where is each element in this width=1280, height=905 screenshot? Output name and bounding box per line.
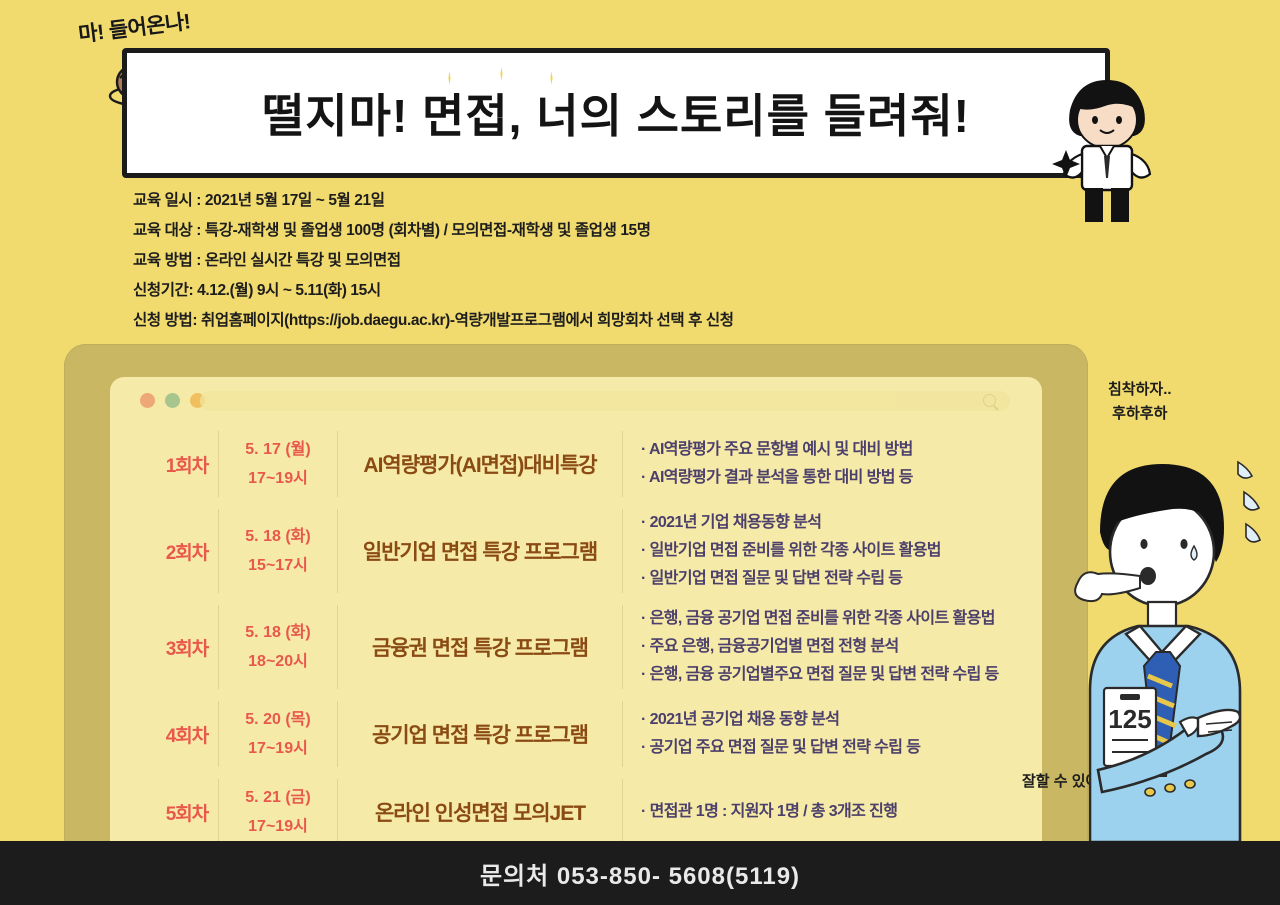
list-item: AI역량평가 주요 문항별 예시 및 대비 방법 (641, 436, 1042, 464)
browser-window: 1회차 5. 17 (월) 17~19시 AI역량평가(AI면접)대비특강 AI… (110, 377, 1042, 842)
session-time: 17~19시 (219, 464, 337, 493)
contact-text: 문의처 053-850- 5608(5119) (480, 856, 800, 891)
session-title: 공기업 면접 특강 프로그램 (338, 701, 623, 767)
session-datetime: 5. 21 (금) 17~19시 (218, 779, 338, 845)
session-date: 5. 17 (월) (219, 435, 337, 464)
session-no: 5회차 (156, 799, 218, 826)
calm-speech-text: 침착하자.. 후하후하 (1108, 378, 1172, 426)
list-item: 2021년 기업 채용동향 분석 (641, 509, 1042, 537)
session-time: 17~19시 (219, 734, 337, 763)
minimize-dot-icon[interactable] (165, 393, 180, 408)
table-row: 1회차 5. 17 (월) 17~19시 AI역량평가(AI면접)대비특강 AI… (156, 425, 1042, 503)
session-date: 5. 18 (화) (219, 618, 337, 647)
session-title: 온라인 인성면접 모의JET (338, 779, 623, 845)
info-line-apply-method: 신청 방법: 취업홈페이지(https://job.daegu.ac.kr)-역… (133, 306, 993, 336)
info-block: 교육 일시 : 2021년 5월 17일 ~ 5월 21일 교육 대상 : 특강… (133, 186, 993, 336)
session-no: 4회차 (156, 721, 218, 748)
info-line-apply-period: 신청기간: 4.12.(월) 9시 ~ 5.11(화) 15시 (133, 276, 993, 306)
session-datetime: 5. 20 (목) 17~19시 (218, 701, 338, 767)
list-item: 은행, 금융 공기업별주요 면접 질문 및 답변 전략 수립 등 (641, 661, 1042, 689)
poster-root: 마! 들어온나! 떨지마! 면접, 너의 스토리를 들려줘! (0, 0, 1280, 905)
close-dot-icon[interactable] (140, 393, 155, 408)
list-item: 주요 은행, 금융공기업별 면접 전형 분석 (641, 633, 1042, 661)
session-datetime: 5. 18 (화) 15~17시 (218, 509, 338, 593)
session-time: 18~20시 (219, 647, 337, 676)
boy-character-top-icon (1032, 68, 1182, 228)
session-no: 3회차 (156, 634, 218, 661)
list-item: 면접관 1명 : 지원자 1명 / 총 3개조 진행 (641, 798, 1042, 826)
schedule-table: 1회차 5. 17 (월) 17~19시 AI역량평가(AI면접)대비특강 AI… (156, 425, 1042, 851)
list-item: 은행, 금융 공기업 면접 준비를 위한 각종 사이트 활용법 (641, 605, 1042, 633)
table-row: 3회차 5. 18 (화) 18~20시 금융권 면접 특강 프로그램 은행, … (156, 599, 1042, 695)
top-left-speech-text: 마! 들어온나! (77, 5, 192, 48)
session-desc-list: 2021년 공기업 채용 동향 분석 공기업 주요 면접 질문 및 답변 전략 … (623, 706, 1042, 762)
laptop-frame: 1회차 5. 17 (월) 17~19시 AI역량평가(AI면접)대비특강 AI… (64, 344, 1088, 842)
session-desc-list: 면접관 1명 : 지원자 1명 / 총 3개조 진행 (623, 798, 1042, 826)
footer-bar: 문의처 053-850- 5608(5119) (0, 841, 1280, 905)
list-item: 일반기업 면접 질문 및 답변 전략 수립 등 (641, 565, 1042, 593)
session-datetime: 5. 17 (월) 17~19시 (218, 431, 338, 497)
page-title: 떨지마! 면접, 너의 스토리를 들려줘! (127, 53, 1105, 173)
badge-number: 125 (1108, 704, 1151, 734)
table-row: 2회차 5. 18 (화) 15~17시 일반기업 면접 특강 프로그램 202… (156, 503, 1042, 599)
window-controls[interactable] (140, 393, 205, 408)
list-item: 공기업 주요 면접 질문 및 답변 전략 수립 등 (641, 734, 1042, 762)
session-desc-list: 은행, 금융 공기업 면접 준비를 위한 각종 사이트 활용법 주요 은행, 금… (623, 605, 1042, 689)
table-row: 5회차 5. 21 (금) 17~19시 온라인 인성면접 모의JET 면접관 … (156, 773, 1042, 851)
list-item: AI역량평가 결과 분석을 통한 대비 방법 등 (641, 464, 1042, 492)
session-date: 5. 21 (금) (219, 783, 337, 812)
session-desc-list: AI역량평가 주요 문항별 예시 및 대비 방법 AI역량평가 결과 분석을 통… (623, 436, 1042, 492)
session-no: 2회차 (156, 538, 218, 565)
session-date: 5. 18 (화) (219, 522, 337, 551)
info-line-method: 교육 방법 : 온라인 실시간 특강 및 모의면접 (133, 246, 993, 276)
session-title: 일반기업 면접 특강 프로그램 (338, 509, 623, 593)
session-title: AI역량평가(AI면접)대비특강 (338, 431, 623, 497)
search-icon (983, 394, 996, 407)
list-item: 2021년 공기업 채용 동향 분석 (641, 706, 1042, 734)
search-input[interactable] (200, 391, 1010, 411)
table-row: 4회차 5. 20 (목) 17~19시 공기업 면접 특강 프로그램 2021… (156, 695, 1042, 773)
title-box: 떨지마! 면접, 너의 스토리를 들려줘! (122, 48, 1110, 178)
boy-character-main-icon: 125 (1048, 440, 1280, 845)
session-no: 1회차 (156, 451, 218, 478)
info-line-date: 교육 일시 : 2021년 5월 17일 ~ 5월 21일 (133, 186, 993, 216)
session-date: 5. 20 (목) (219, 705, 337, 734)
list-item: 일반기업 면접 준비를 위한 각종 사이트 활용법 (641, 537, 1042, 565)
info-line-target: 교육 대상 : 특강-재학생 및 졸업생 100명 (회차별) / 모의면접-재… (133, 216, 993, 246)
session-title: 금융권 면접 특강 프로그램 (338, 605, 623, 689)
session-datetime: 5. 18 (화) 18~20시 (218, 605, 338, 689)
session-desc-list: 2021년 기업 채용동향 분석 일반기업 면접 준비를 위한 각종 사이트 활… (623, 509, 1042, 593)
calm-line-1: 침착하자.. (1108, 381, 1172, 398)
session-time: 15~17시 (219, 551, 337, 580)
calm-line-2: 후하후하 (1112, 405, 1167, 422)
session-time: 17~19시 (219, 812, 337, 841)
